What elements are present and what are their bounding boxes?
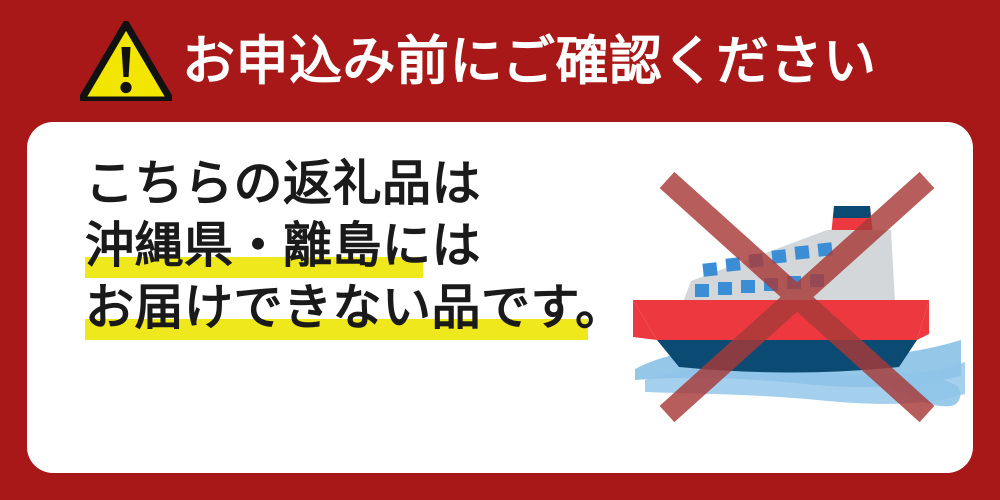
message-line-2: 沖縄県・離島には [85, 222, 615, 284]
message-line-3: お届けできない品です。 [85, 284, 615, 346]
notice-banner: お申込み前にご確認ください こちらの返礼品は 沖縄県・離島には お届けできない品… [0, 0, 1000, 500]
notice-message: こちらの返礼品は 沖縄県・離島には お届けできない品です。 [85, 160, 615, 346]
message-line-1-text: こちらの返礼品は [85, 157, 481, 211]
ship-prohibited-illustration [627, 162, 967, 422]
banner-header: お申込み前にご確認ください [0, 0, 1000, 122]
message-line-1: こちらの返礼品は [85, 160, 615, 222]
banner-header-title: お申込み前にご確認ください [182, 35, 876, 88]
message-line-2-text: 沖縄県・離島には [85, 219, 481, 273]
message-line-3-text: お届けできない品です。 [85, 281, 625, 335]
warning-triangle-icon [80, 17, 172, 106]
notice-card: こちらの返礼品は 沖縄県・離島には お届けできない品です。 [27, 122, 973, 473]
